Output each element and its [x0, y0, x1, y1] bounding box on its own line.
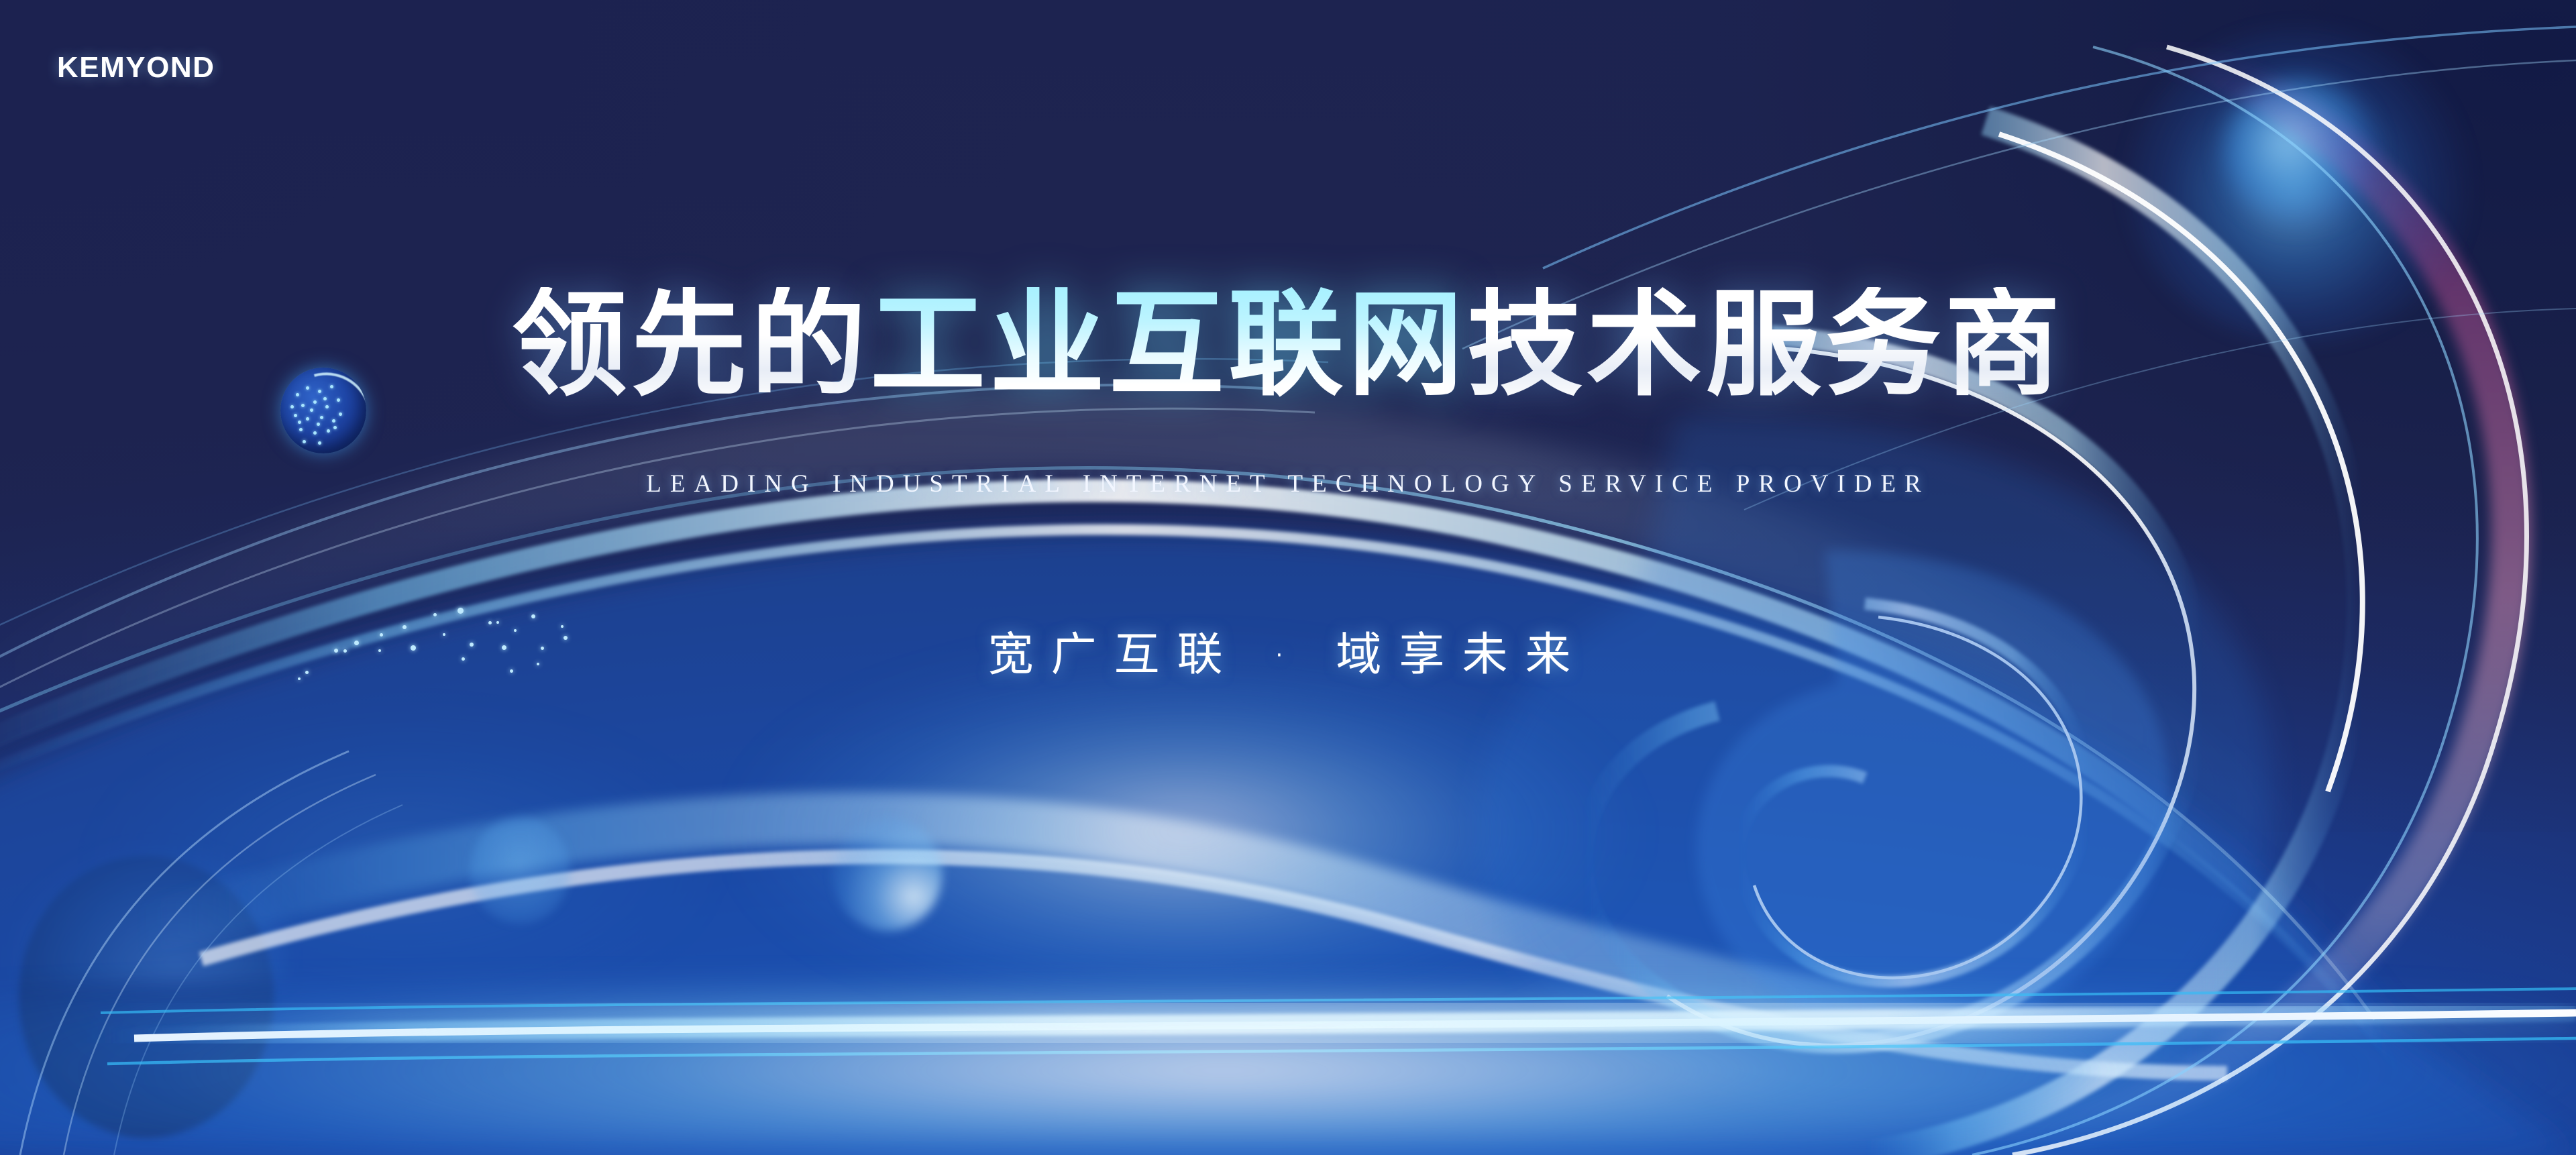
brand-logo: KEMYOND: [57, 51, 215, 85]
promo-banner: KEMYOND 领先的工业互联网技术服务商 LEADING INDUSTRIAL…: [0, 0, 2576, 1155]
headline-segment-3: 技术服务商: [1467, 287, 2064, 402]
subheadline: LEADING INDUSTRIAL INTERNET TECHNOLOGY S…: [0, 470, 2576, 498]
page-title: 领先的工业互联网技术服务商: [0, 287, 2576, 402]
tagline: 宽广互联 · 域享未来: [0, 617, 2576, 683]
headline-segment-2: 工业互联网: [870, 287, 1467, 402]
light-bubble-icon-right: [832, 817, 943, 931]
light-bubble-icon-left: [470, 817, 570, 924]
headline-segment-1: 领先的: [512, 287, 870, 402]
light-ribbons-icon: [0, 0, 2576, 1155]
